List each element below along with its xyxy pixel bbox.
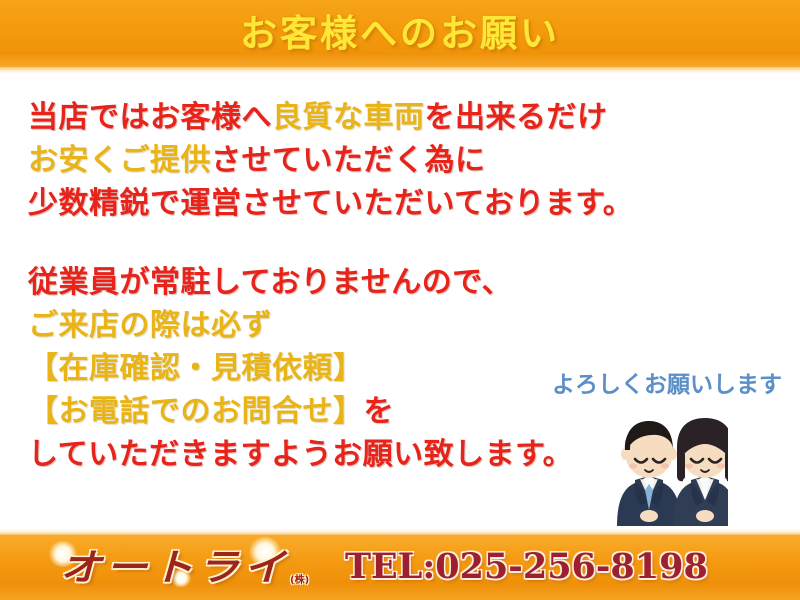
notice-text-segment: させていただく為に: [211, 143, 486, 178]
greeting-text: よろしくお願いします: [552, 370, 782, 400]
notice-text-segment: 【在庫確認・見積依頼】: [28, 351, 364, 386]
company-logo[interactable]: オートライ (株): [52, 543, 322, 593]
notice-text-segment: お安くご提供: [28, 143, 211, 178]
logo-text: オートライ: [60, 545, 290, 591]
notice-text-segment: を: [364, 394, 395, 429]
notice-text-segment: 少数精鋭で運営させていただいております。: [28, 186, 633, 221]
paragraph-gap: [28, 225, 728, 261]
businessman-figure: [617, 421, 681, 526]
poster-root: お客様へのお願い 当店ではお客様へ良質な車両を出来るだけお安くご提供させていただ…: [0, 0, 800, 600]
logo-kabushiki-mark: (株): [290, 575, 309, 587]
notice-line: 従業員が常駐しておりませんので、: [28, 261, 728, 304]
notice-text-segment: 良質な車両: [272, 100, 425, 135]
notice-line: お安くご提供させていただく為に: [28, 139, 728, 182]
header-fade-divider: [0, 67, 800, 74]
notice-line: ご来店の際は必ず: [28, 304, 728, 347]
notice-line: 少数精鋭で運営させていただいております。: [28, 182, 728, 225]
notice-text-segment: ご来店の際は必ず: [28, 308, 272, 343]
telephone-number[interactable]: TEL:025-256-8198: [345, 544, 708, 590]
notice-text-segment: 従業員が常駐しておりませんので、: [28, 265, 512, 300]
notice-text-segment: を出来るだけ: [425, 100, 608, 135]
page-title: お客様へのお願い: [0, 6, 800, 62]
notice-paragraph: 当店ではお客様へ良質な車両を出来るだけお安くご提供させていただく為に少数精鋭で運…: [28, 96, 728, 225]
notice-text-segment: していただきますようお願い致します。: [28, 437, 573, 472]
bowing-staff-illustration: [604, 414, 728, 526]
businesswoman-figure: [673, 418, 728, 526]
notice-line: 当店ではお客様へ良質な車両を出来るだけ: [28, 96, 728, 139]
notice-text-segment: 当店ではお客様へ: [28, 100, 272, 135]
notice-text-segment: 【お電話でのお問合せ】: [28, 394, 364, 429]
